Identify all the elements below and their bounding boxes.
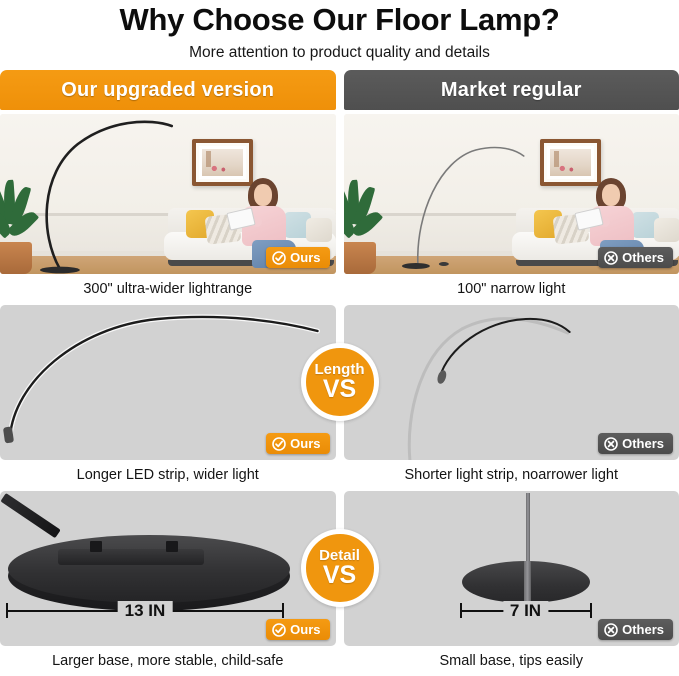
measure-label-others: 7 IN xyxy=(503,601,548,621)
measure-tick-right xyxy=(590,603,592,618)
check-circle-icon xyxy=(272,623,286,637)
check-circle-icon xyxy=(272,437,286,451)
vs-badge-length-word: VS xyxy=(323,377,356,402)
measurement-others-base: 7 IN xyxy=(460,603,592,618)
badge-others-label: Others xyxy=(622,622,664,637)
panel-others-base: 7 IN Others xyxy=(344,491,679,646)
pole-foot xyxy=(524,561,531,601)
page-title: Why Choose Our Floor Lamp? xyxy=(0,0,679,38)
measure-label-ours: 13 IN xyxy=(118,601,173,621)
vs-badge-detail: Detail VS xyxy=(301,529,379,607)
badge-ours: Ours xyxy=(266,433,329,454)
panel-others-led-strip: Others xyxy=(344,305,679,460)
caption-others-detail: Small base, tips easily xyxy=(344,651,679,671)
caption-row-length: Longer LED strip, wider light Shorter li… xyxy=(0,460,679,491)
badge-ours: Ours xyxy=(266,247,329,268)
measurement-ours-base: 13 IN xyxy=(6,603,284,618)
comparison-row-detail: 13 IN Ours 7 IN xyxy=(0,491,679,646)
badge-others: Others xyxy=(598,619,673,640)
panel-ours-room-scene: Ours xyxy=(0,114,336,274)
badge-others-label: Others xyxy=(622,436,664,451)
base-bracket xyxy=(58,549,204,565)
badge-ours: Ours xyxy=(266,619,329,640)
x-circle-icon xyxy=(604,623,618,637)
caption-ours-detail: Larger base, more stable, child-safe xyxy=(0,651,336,671)
comparison-row-lightrange: Ours xyxy=(0,114,679,274)
bracket-clip xyxy=(90,541,102,552)
caption-ours-lightrange: 300" ultra-wider lightrange xyxy=(0,279,336,299)
badge-others: Others xyxy=(598,433,673,454)
caption-row-detail: Larger base, more stable, child-safe Sma… xyxy=(0,646,679,676)
badge-others: Others xyxy=(598,247,673,268)
badge-ours-label: Ours xyxy=(290,436,320,451)
column-headers: Our upgraded version Market regular xyxy=(0,64,679,114)
x-circle-icon xyxy=(604,251,618,265)
caption-others-lightrange: 100" narrow light xyxy=(344,279,679,299)
caption-others-length: Shorter light strip, noarrower light xyxy=(344,465,679,485)
caption-ours-length: Longer LED strip, wider light xyxy=(0,465,336,485)
panel-ours-base: 13 IN Ours xyxy=(0,491,336,646)
measure-tick-right xyxy=(282,603,284,618)
comparison-row-length: Ours Others Length VS xyxy=(0,305,679,460)
vs-badge-length: Length VS xyxy=(301,343,379,421)
x-circle-icon xyxy=(604,437,618,451)
column-header-market: Market regular xyxy=(344,70,679,110)
badge-ours-label: Ours xyxy=(290,250,320,265)
bracket-clip xyxy=(166,541,178,552)
check-circle-icon xyxy=(272,251,286,265)
lamp-pole-others xyxy=(526,493,530,565)
measure-bar: 7 IN xyxy=(462,610,590,612)
caption-row-lightrange: 300" ultra-wider lightrange 100" narrow … xyxy=(0,274,679,305)
vs-badge-detail-word: VS xyxy=(323,563,356,588)
measure-bar: 13 IN xyxy=(8,610,282,612)
panel-ours-led-strip: Ours xyxy=(0,305,336,460)
page-subtitle: More attention to product quality and de… xyxy=(0,38,679,64)
badge-ours-label: Ours xyxy=(290,622,320,637)
base-disc-ours xyxy=(8,535,290,603)
column-header-ours: Our upgraded version xyxy=(0,70,336,110)
badge-others-label: Others xyxy=(622,250,664,265)
panel-others-room-scene: Others xyxy=(344,114,679,274)
infographic-root: Why Choose Our Floor Lamp? More attentio… xyxy=(0,0,679,676)
